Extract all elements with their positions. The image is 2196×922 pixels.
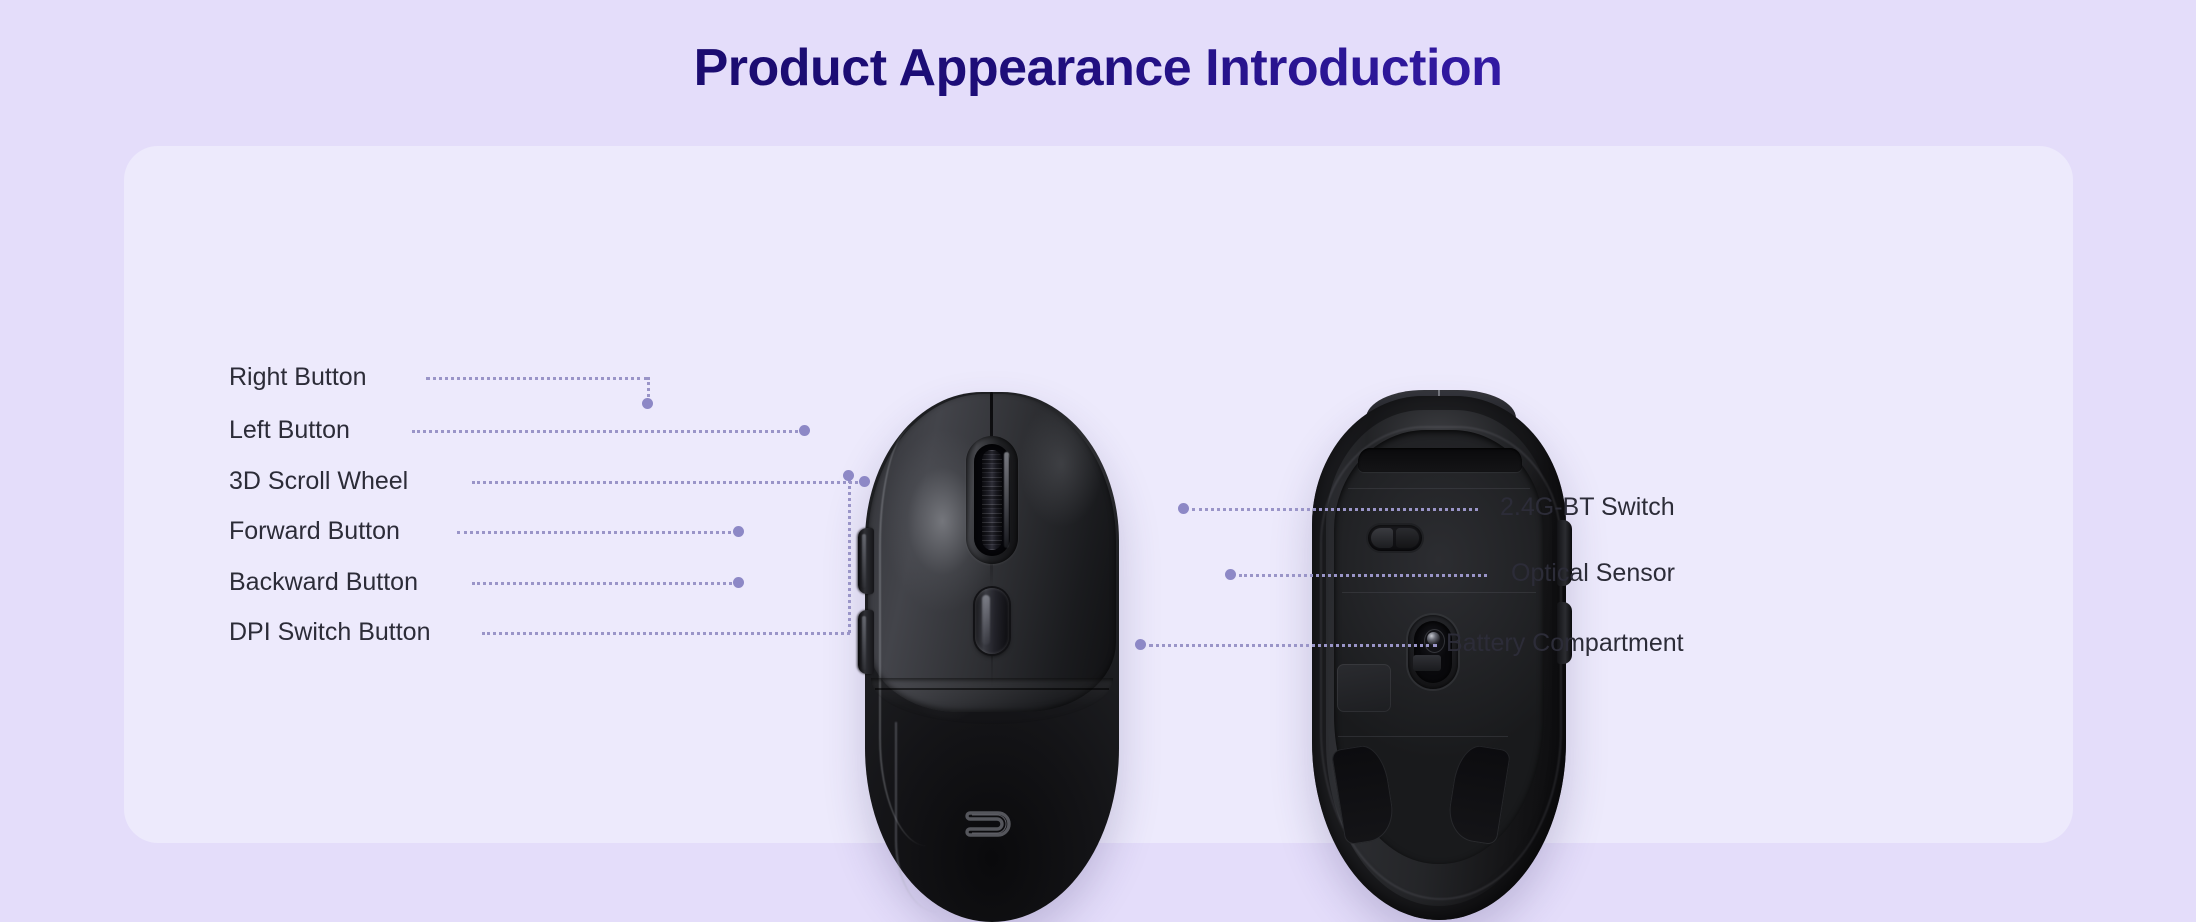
leader-forward-button-h (457, 531, 738, 534)
callout-label-right-button: Right Button (229, 365, 367, 390)
dpi-button-highlight (982, 595, 990, 645)
callout-label-scroll-wheel: 3D Scroll Wheel (229, 469, 408, 494)
scroll-wheel-housing (966, 436, 1018, 564)
forward-button-highlight (862, 534, 866, 588)
leader-dpi-switch-h (482, 632, 850, 635)
leader-2-4g-bt-switch (1192, 508, 1478, 511)
dot-left-button (799, 425, 810, 436)
mouse-bottom-view-image (1312, 396, 1566, 920)
callout-label-dpi-switch: DPI Switch Button (229, 620, 430, 645)
2-4g-bt-switch (1368, 525, 1422, 551)
leader-left-button-h (412, 430, 804, 433)
callout-label-optical-sensor: Optical Sensor (1511, 561, 1675, 586)
leader-dpi-switch-v (848, 475, 851, 633)
optical-sensor-bar (1413, 655, 1441, 671)
battery-compartment-seam (1338, 736, 1508, 737)
bottom-small-panel (1337, 664, 1391, 712)
scroll-wheel-slot (974, 444, 1010, 556)
leader-backward-button-h (472, 582, 738, 585)
dot-right-button (642, 398, 653, 409)
backward-button-highlight (862, 616, 866, 670)
mouse-bottom-front-recess (1358, 448, 1522, 472)
page-title: Product Appearance Introduction (0, 38, 2196, 98)
bottom-panel-seam-top (1348, 488, 1530, 489)
mouse-top-edge-highlight-lower (895, 722, 937, 912)
dpi-switch-button (975, 588, 1009, 654)
dot-scroll-wheel (859, 476, 870, 487)
scroll-wheel-sheen (1004, 452, 1009, 548)
leader-right-button-h (426, 377, 648, 380)
dot-forward-button (733, 526, 744, 537)
dot-backward-button (733, 577, 744, 588)
leader-battery-compartment (1149, 644, 1437, 647)
scroll-wheel-texture (982, 450, 1002, 550)
scroll-wheel (982, 450, 1002, 550)
switch-knob-right (1396, 528, 1419, 548)
diagram-card: Right Button Left Button 3D Scroll Wheel… (124, 146, 2073, 843)
dot-battery-compartment (1135, 639, 1146, 650)
callout-label-forward-button: Forward Button (229, 519, 400, 544)
leader-optical-sensor (1239, 574, 1487, 577)
switch-knob-left (1371, 528, 1393, 548)
forward-side-button (858, 528, 874, 594)
callout-label-backward-button: Backward Button (229, 570, 418, 595)
dot-optical-sensor (1225, 569, 1236, 580)
leader-scroll-wheel-h (472, 481, 864, 484)
mouse-top-view-image (865, 392, 1119, 922)
dot-dpi-switch (843, 470, 854, 481)
bottom-panel-seam-mid (1342, 592, 1536, 593)
callout-label-left-button: Left Button (229, 418, 350, 443)
callout-label-battery-compartment: Battery Compartment (1446, 631, 1684, 656)
callout-label-2-4g-bt-switch-text: 2.4G-BT Switch (1500, 495, 1675, 520)
dot-2-4g-bt-switch (1178, 503, 1189, 514)
backward-side-button (858, 610, 874, 674)
brand-logo-icon (964, 804, 1020, 844)
